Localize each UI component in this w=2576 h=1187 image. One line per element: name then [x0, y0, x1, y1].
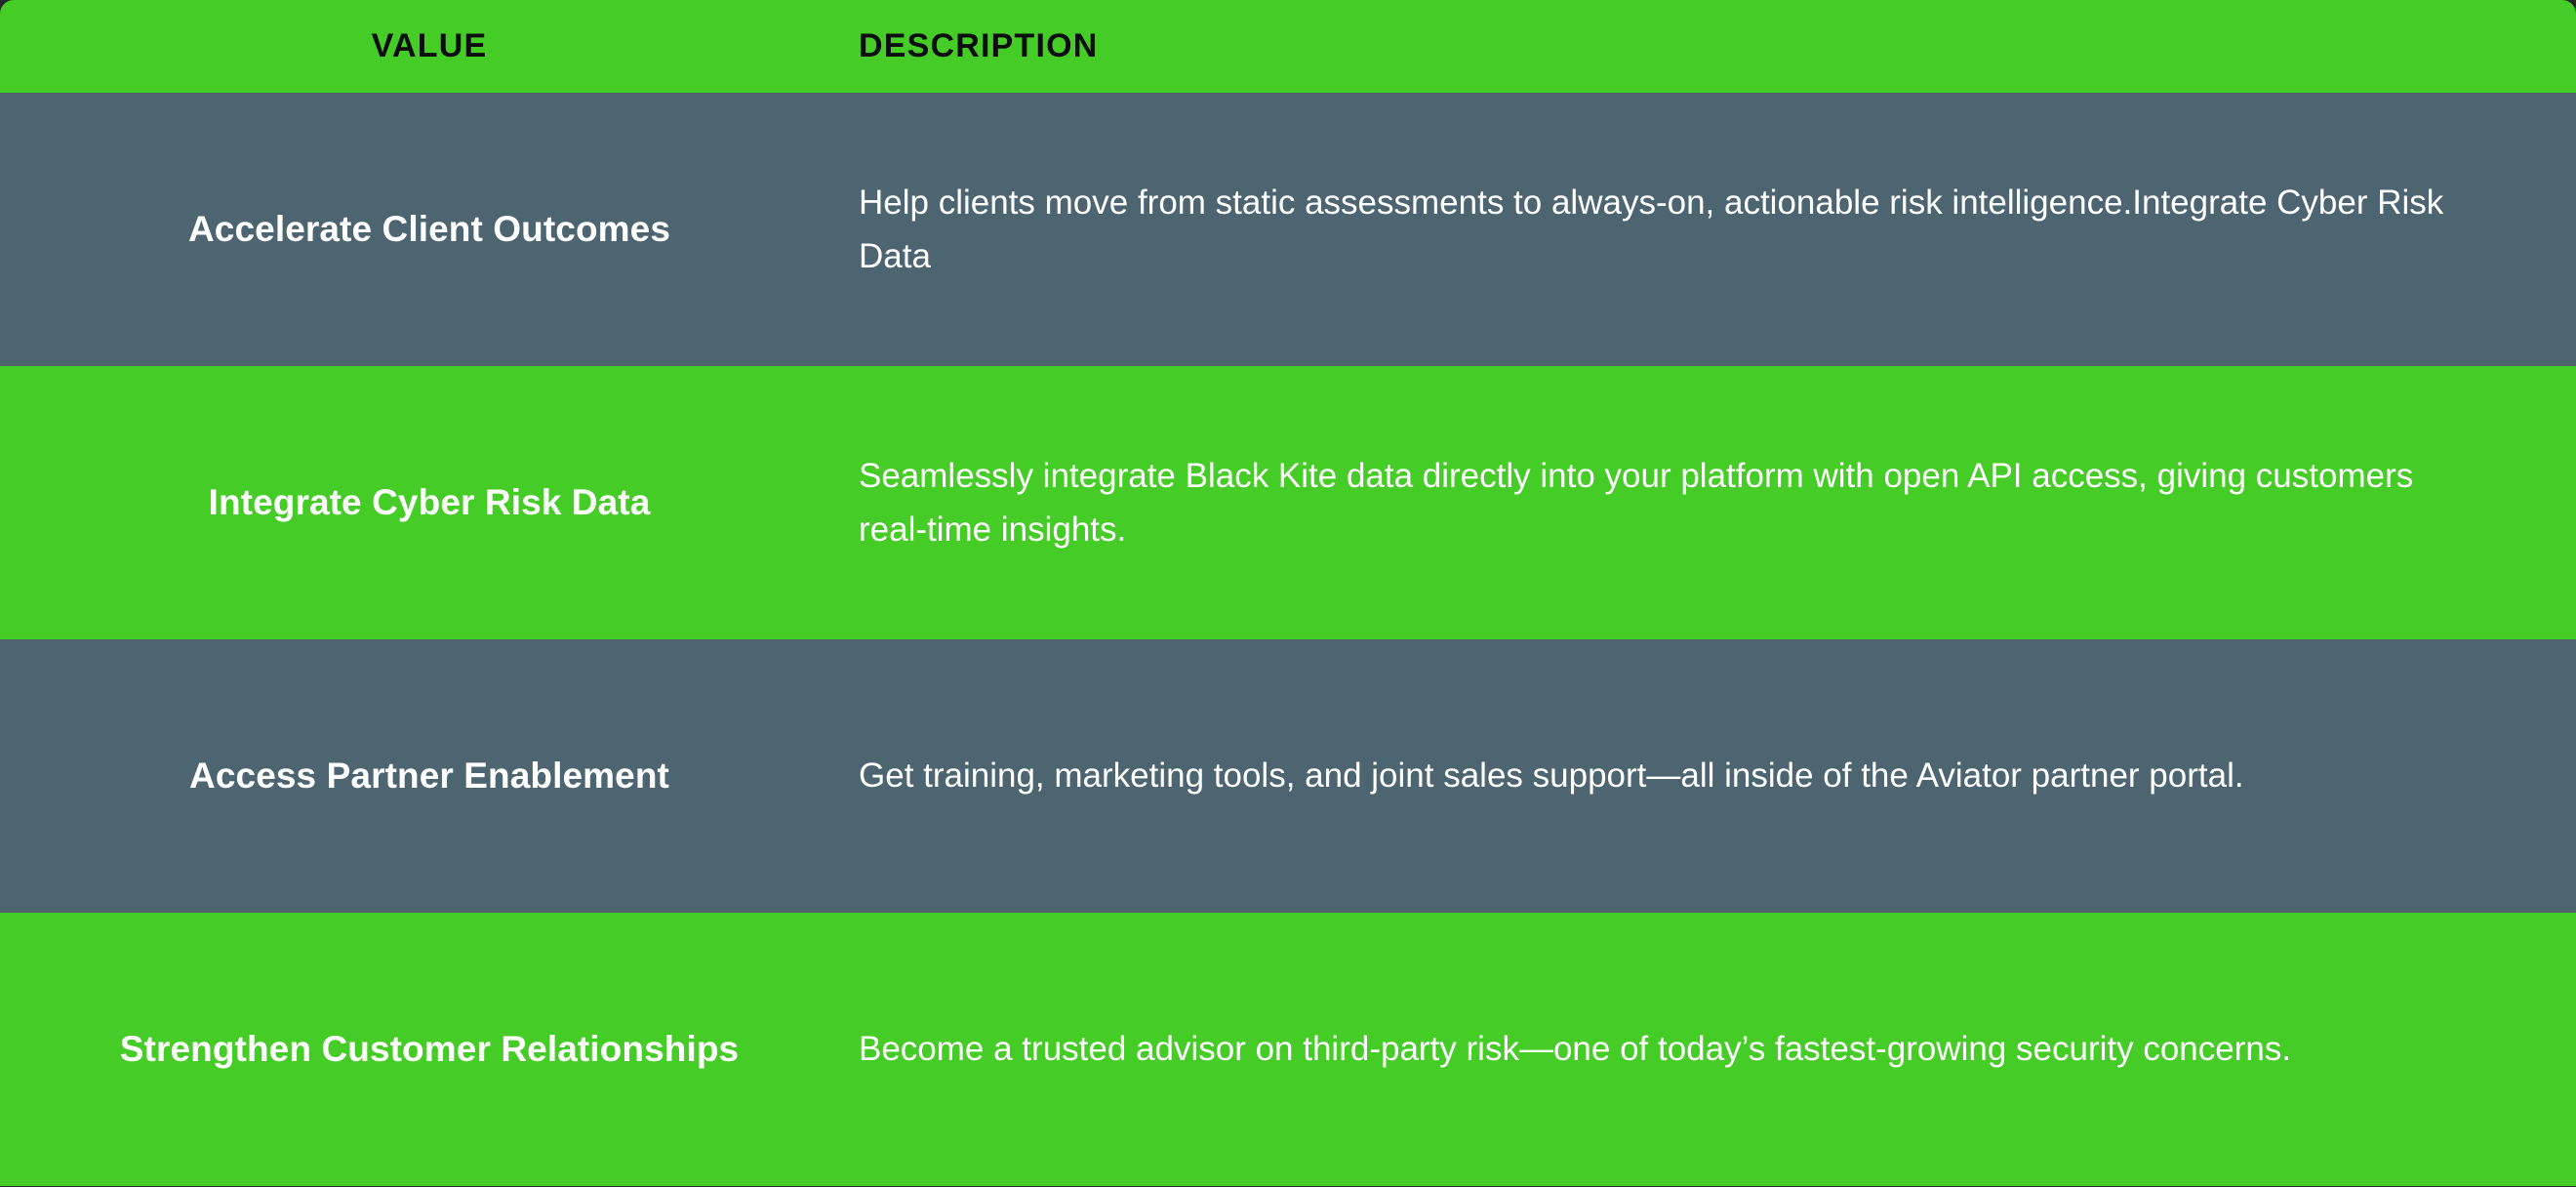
- cell-value: Access Partner Enablement: [0, 639, 859, 913]
- cell-description: Become a trusted advisor on third-party …: [859, 913, 2576, 1186]
- description-text: Get training, marketing tools, and joint…: [859, 749, 2459, 802]
- table-row: Accelerate Client Outcomes Help clients …: [0, 93, 2576, 366]
- cell-description: Seamlessly integrate Black Kite data dir…: [859, 366, 2576, 639]
- table-header-row: VALUE DESCRIPTION: [0, 0, 2576, 93]
- cell-value: Integrate Cyber Risk Data: [0, 366, 859, 639]
- column-header-description: DESCRIPTION: [859, 0, 2576, 93]
- table-row: Access Partner Enablement Get training, …: [0, 639, 2576, 913]
- value-description-table: VALUE DESCRIPTION Accelerate Client Outc…: [0, 0, 2576, 1186]
- table-row: Strengthen Customer Relationships Become…: [0, 913, 2576, 1186]
- cell-value: Accelerate Client Outcomes: [0, 93, 859, 366]
- cell-value: Strengthen Customer Relationships: [0, 913, 859, 1186]
- cell-description: Get training, marketing tools, and joint…: [859, 639, 2576, 913]
- table-body: Accelerate Client Outcomes Help clients …: [0, 93, 2576, 1186]
- table-header: VALUE DESCRIPTION: [0, 0, 2576, 93]
- description-text: Become a trusted advisor on third-party …: [859, 1022, 2459, 1076]
- description-text: Seamlessly integrate Black Kite data dir…: [859, 449, 2459, 557]
- cell-description: Help clients move from static assessment…: [859, 93, 2576, 366]
- column-header-value: VALUE: [0, 0, 859, 93]
- description-text: Help clients move from static assessment…: [859, 176, 2459, 284]
- value-table-container: VALUE DESCRIPTION Accelerate Client Outc…: [0, 0, 2576, 1187]
- table-row: Integrate Cyber Risk Data Seamlessly int…: [0, 366, 2576, 639]
